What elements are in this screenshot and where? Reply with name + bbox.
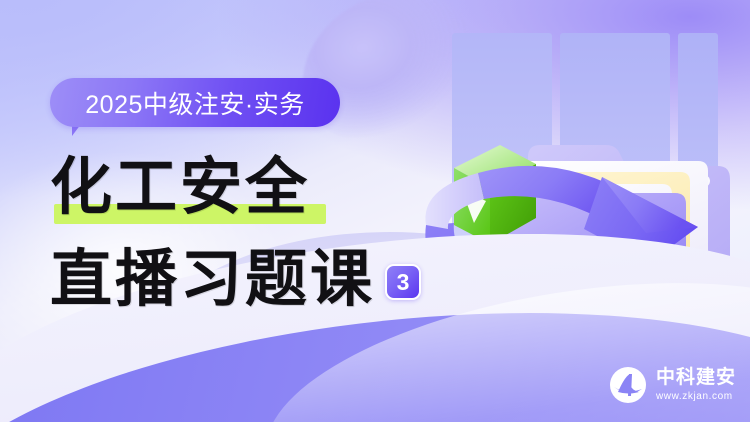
zkjan-mark-icon xyxy=(609,366,647,404)
course-category-badge: 2025中级注安·实务 xyxy=(50,78,340,127)
course-category-badge-label: 2025中级注安·实务 xyxy=(85,85,304,121)
headline-line-1-wrap: 化工安全 xyxy=(50,148,470,226)
course-promo-banner: 2025中级注安·实务 化工安全 直播习题课 3 中科建安 www.zkjan.… xyxy=(0,0,750,422)
headline-line-1: 化工安全 xyxy=(50,150,310,223)
headline-block: 化工安全 直播习题课 3 xyxy=(50,148,470,318)
brand-name: 中科建安 xyxy=(656,368,736,387)
headline-line-2: 直播习题课 xyxy=(50,240,375,318)
headline-line-2-wrap: 直播习题课 3 xyxy=(50,240,470,318)
brand-url: www.zkjan.com xyxy=(656,392,736,402)
brand-logo[interactable]: 中科建安 www.zkjan.com xyxy=(609,366,736,404)
episode-number-badge: 3 xyxy=(385,264,421,300)
brand-logo-text: 中科建安 www.zkjan.com xyxy=(656,368,736,402)
